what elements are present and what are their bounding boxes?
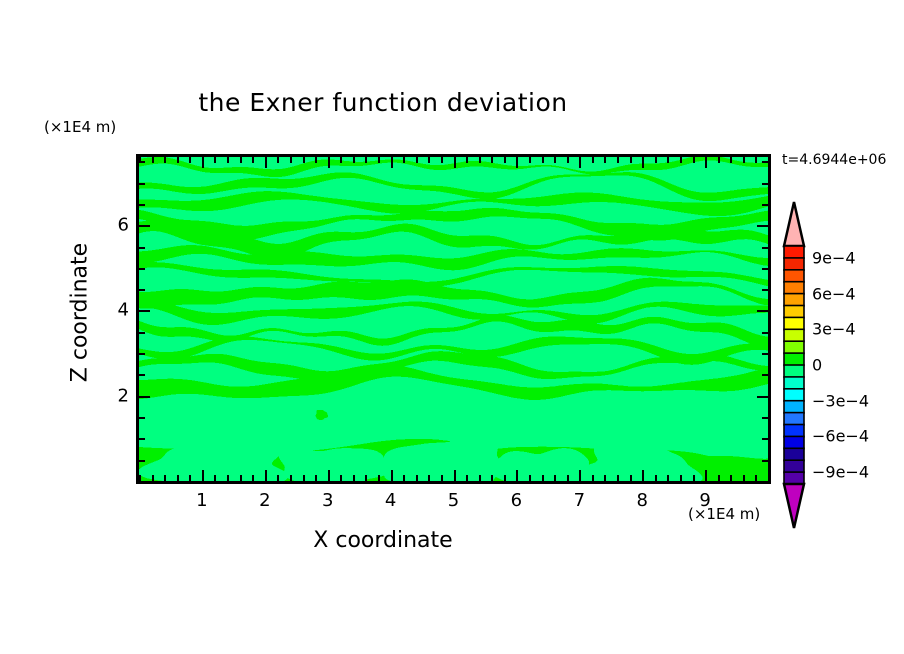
x-minor-tick-top: [252, 157, 254, 163]
x-minor-tick-top: [353, 157, 355, 163]
x-minor-tick: [667, 475, 669, 481]
x-minor-tick-top: [504, 157, 506, 163]
y-minor-tick-right: [762, 438, 768, 440]
y-minor-tick: [139, 332, 145, 334]
x-minor-tick-top: [416, 157, 418, 163]
colorbar-band: [784, 317, 804, 329]
colorbar-tick-label: 0: [812, 356, 822, 375]
x-major-tick: [642, 470, 644, 481]
colorbar-band: [784, 341, 804, 353]
colorbar-band: [784, 365, 804, 377]
colorbar: [781, 200, 807, 530]
y-major-tick-right: [757, 225, 768, 227]
x-major-tick-top: [642, 157, 644, 168]
x-minor-tick: [592, 475, 594, 481]
x-minor-tick: [617, 475, 619, 481]
x-minor-tick: [277, 475, 279, 481]
x-minor-tick: [630, 475, 632, 481]
x-minor-tick: [315, 475, 317, 481]
y-tick-label: 2: [95, 385, 129, 406]
x-minor-tick: [680, 475, 682, 481]
x-minor-tick-top: [743, 157, 745, 163]
x-major-tick: [202, 470, 204, 481]
x-major-tick-top: [454, 157, 456, 168]
x-minor-tick: [365, 475, 367, 481]
x-minor-tick: [303, 475, 305, 481]
colorbar-band: [784, 413, 804, 425]
x-major-tick-top: [705, 157, 707, 168]
y-minor-tick: [139, 183, 145, 185]
x-tick-label: 3: [322, 490, 333, 511]
colorbar-band: [784, 270, 804, 282]
x-minor-tick-top: [428, 157, 430, 163]
x-minor-tick: [604, 475, 606, 481]
x-minor-tick-top: [604, 157, 606, 163]
y-minor-tick: [139, 481, 145, 483]
x-minor-tick: [567, 475, 569, 481]
x-minor-tick: [227, 475, 229, 481]
colorbar-band: [784, 294, 804, 306]
x-minor-tick-top: [403, 157, 405, 163]
contour-plot-panel: [136, 154, 771, 484]
x-major-tick: [328, 470, 330, 481]
x-minor-tick-top: [164, 157, 166, 163]
colorbar-band: [784, 282, 804, 294]
timestamp-annotation: t=4.6944e+06: [782, 152, 886, 168]
y-minor-tick: [139, 460, 145, 462]
x-minor-tick: [152, 475, 154, 481]
y-major-tick-right: [757, 310, 768, 312]
y-minor-tick-right: [762, 161, 768, 163]
x-minor-tick: [252, 475, 254, 481]
x-minor-tick-top: [365, 157, 367, 163]
x-tick-label: 2: [259, 490, 270, 511]
x-minor-tick: [164, 475, 166, 481]
x-minor-tick: [491, 475, 493, 481]
y-minor-tick: [139, 204, 145, 206]
x-minor-tick: [340, 475, 342, 481]
colorbar-band: [784, 306, 804, 318]
x-minor-tick: [655, 475, 657, 481]
x-minor-tick: [466, 475, 468, 481]
colorbar-over-arrow: [784, 202, 804, 246]
x-minor-tick-top: [667, 157, 669, 163]
y-axis-unit-label: (×1E4 m): [44, 118, 116, 136]
colorbar-tick-label: −6e−4: [812, 427, 869, 446]
x-minor-tick-top: [592, 157, 594, 163]
y-minor-tick-right: [762, 374, 768, 376]
x-minor-tick-top: [680, 157, 682, 163]
x-minor-tick-top: [630, 157, 632, 163]
x-minor-tick: [290, 475, 292, 481]
x-minor-tick-top: [303, 157, 305, 163]
x-minor-tick: [730, 475, 732, 481]
x-minor-tick-top: [529, 157, 531, 163]
x-minor-tick: [378, 475, 380, 481]
x-minor-tick-top: [214, 157, 216, 163]
x-major-tick-top: [391, 157, 393, 168]
colorbar-tick-label: 3e−4: [812, 320, 856, 339]
x-minor-tick: [743, 475, 745, 481]
x-minor-tick: [189, 475, 191, 481]
y-minor-tick: [139, 289, 145, 291]
y-minor-tick: [139, 353, 145, 355]
x-minor-tick-top: [768, 157, 770, 163]
x-minor-tick: [428, 475, 430, 481]
colorbar-band: [784, 448, 804, 460]
colorbar-band: [784, 353, 804, 365]
x-minor-tick-top: [718, 157, 720, 163]
colorbar-tick-label: 9e−4: [812, 248, 856, 267]
x-minor-tick: [214, 475, 216, 481]
x-minor-tick: [529, 475, 531, 481]
x-minor-tick-top: [567, 157, 569, 163]
x-minor-tick: [554, 475, 556, 481]
x-minor-tick-top: [693, 157, 695, 163]
x-tick-label: 1: [196, 490, 207, 511]
x-major-tick: [579, 470, 581, 481]
x-tick-label: 8: [636, 490, 647, 511]
y-minor-tick: [139, 417, 145, 419]
y-tick-label: 6: [95, 215, 129, 236]
y-minor-tick-right: [762, 247, 768, 249]
x-axis-title: X coordinate: [0, 528, 766, 553]
x-minor-tick-top: [290, 157, 292, 163]
x-tick-label: 4: [385, 490, 396, 511]
x-minor-tick-top: [479, 157, 481, 163]
x-minor-tick: [504, 475, 506, 481]
x-minor-tick-top: [277, 157, 279, 163]
y-minor-tick-right: [762, 183, 768, 185]
x-minor-tick: [441, 475, 443, 481]
x-minor-tick: [542, 475, 544, 481]
y-minor-tick: [139, 438, 145, 440]
x-major-tick-top: [328, 157, 330, 168]
y-minor-tick: [139, 268, 145, 270]
x-major-tick: [391, 470, 393, 481]
colorbar-band: [784, 246, 804, 258]
colorbar-band: [784, 258, 804, 270]
x-minor-tick: [718, 475, 720, 481]
y-axis-title: Z coordinate: [68, 203, 93, 423]
x-minor-tick-top: [240, 157, 242, 163]
x-tick-label: 5: [448, 490, 459, 511]
colorbar-band: [784, 436, 804, 448]
colorbar-tick-label: −9e−4: [812, 463, 869, 482]
y-major-tick-right: [757, 396, 768, 398]
contour-field: [139, 157, 768, 481]
x-minor-tick-top: [227, 157, 229, 163]
colorbar-band: [784, 377, 804, 389]
colorbar-tick-label: −3e−4: [812, 391, 869, 410]
colorbar-tick-label: 6e−4: [812, 284, 856, 303]
x-major-tick-top: [516, 157, 518, 168]
colorbar-under-arrow: [784, 484, 804, 528]
y-minor-tick: [139, 161, 145, 163]
y-minor-tick-right: [762, 353, 768, 355]
x-minor-tick: [693, 475, 695, 481]
x-tick-label: 6: [511, 490, 522, 511]
x-minor-tick-top: [441, 157, 443, 163]
x-minor-tick-top: [315, 157, 317, 163]
x-minor-tick-top: [378, 157, 380, 163]
y-major-tick: [139, 225, 150, 227]
y-minor-tick-right: [762, 289, 768, 291]
contour-band: [279, 448, 391, 481]
y-minor-tick-right: [762, 481, 768, 483]
x-major-tick-top: [202, 157, 204, 168]
x-major-tick: [516, 470, 518, 481]
x-minor-tick: [479, 475, 481, 481]
y-minor-tick-right: [762, 332, 768, 334]
figure-canvas: the Exner function deviation (×1E4 m) (×…: [0, 0, 904, 654]
colorbar-band: [784, 389, 804, 401]
x-minor-tick-top: [755, 157, 757, 163]
x-minor-tick-top: [466, 157, 468, 163]
y-major-tick: [139, 396, 150, 398]
x-major-tick: [454, 470, 456, 481]
x-tick-label: 7: [574, 490, 585, 511]
x-major-tick-top: [265, 157, 267, 168]
y-minor-tick-right: [762, 204, 768, 206]
y-tick-label: 4: [95, 300, 129, 321]
colorbar-graphic: [781, 200, 807, 530]
y-minor-tick-right: [762, 460, 768, 462]
x-minor-tick: [353, 475, 355, 481]
colorbar-band: [784, 472, 804, 484]
x-tick-label: 9: [699, 490, 710, 511]
colorbar-band: [784, 329, 804, 341]
x-minor-tick-top: [554, 157, 556, 163]
x-minor-tick-top: [189, 157, 191, 163]
x-major-tick: [265, 470, 267, 481]
x-minor-tick-top: [152, 157, 154, 163]
x-minor-tick: [177, 475, 179, 481]
x-minor-tick-top: [177, 157, 179, 163]
y-minor-tick: [139, 247, 145, 249]
colorbar-band: [784, 460, 804, 472]
x-minor-tick-top: [617, 157, 619, 163]
x-major-tick: [705, 470, 707, 481]
x-minor-tick-top: [491, 157, 493, 163]
x-minor-tick-top: [655, 157, 657, 163]
x-minor-tick-top: [340, 157, 342, 163]
page-title: the Exner function deviation: [0, 88, 766, 117]
x-minor-tick-top: [730, 157, 732, 163]
colorbar-band: [784, 425, 804, 437]
x-minor-tick: [416, 475, 418, 481]
y-minor-tick-right: [762, 268, 768, 270]
y-minor-tick-right: [762, 417, 768, 419]
x-minor-tick-top: [542, 157, 544, 163]
x-minor-tick: [768, 475, 770, 481]
y-major-tick: [139, 310, 150, 312]
x-minor-tick: [403, 475, 405, 481]
x-major-tick-top: [579, 157, 581, 168]
x-minor-tick: [240, 475, 242, 481]
y-minor-tick: [139, 374, 145, 376]
colorbar-band: [784, 401, 804, 413]
x-minor-tick: [755, 475, 757, 481]
